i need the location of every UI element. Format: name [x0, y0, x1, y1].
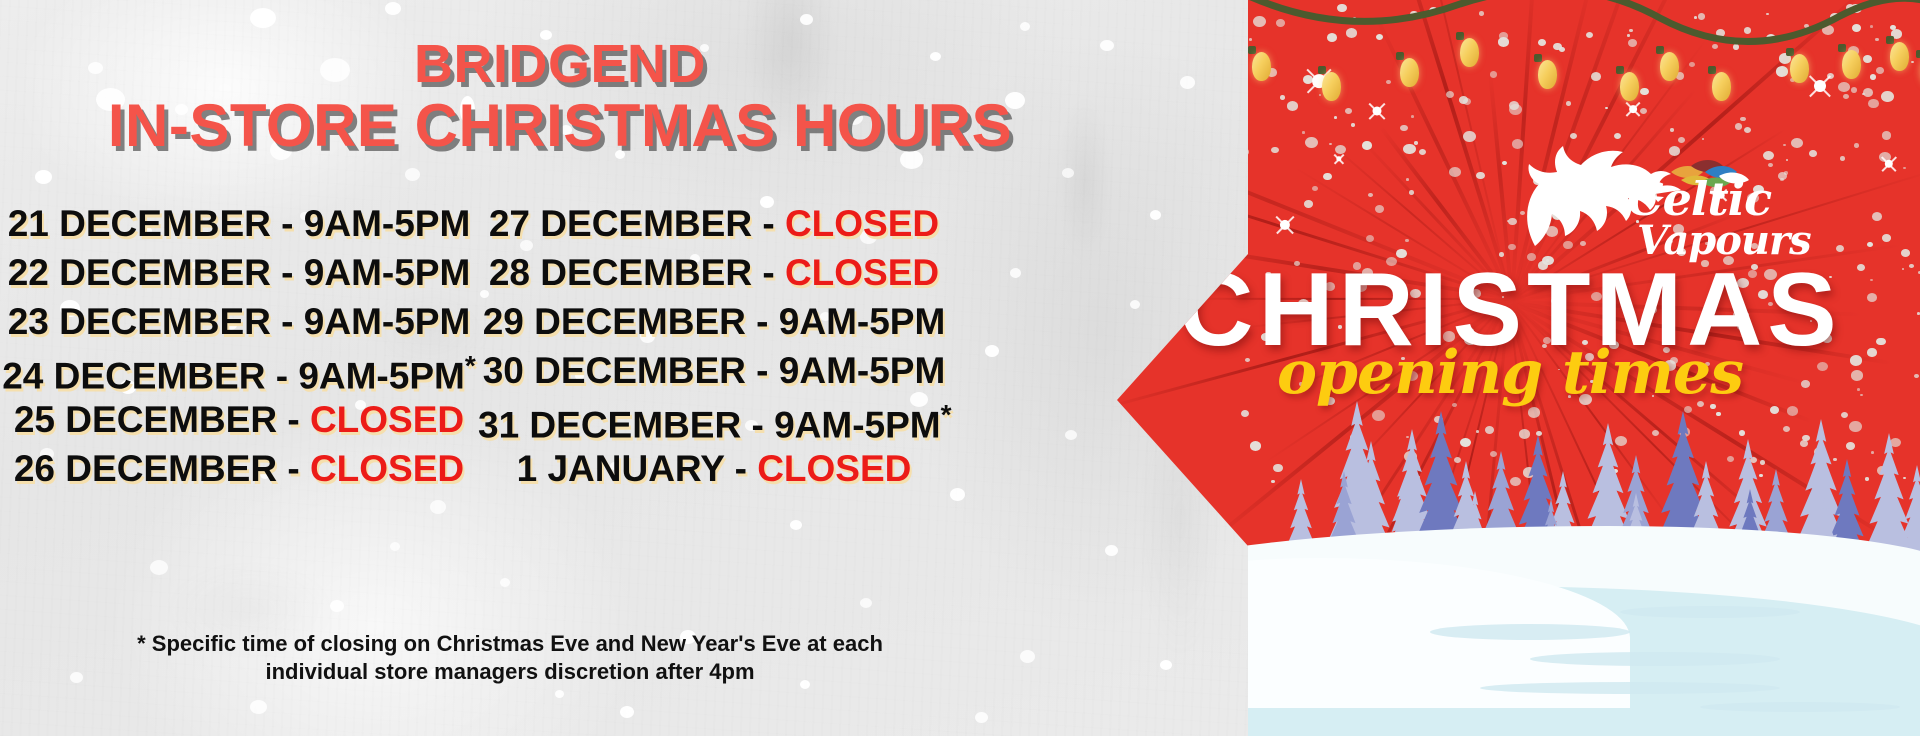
snow-streak: [1700, 702, 1900, 712]
snowflake: [950, 488, 965, 501]
snowflake: [860, 598, 872, 608]
hours-row: 30 DECEMBER - 9AM-5PM: [478, 352, 950, 401]
snow-dot: [1280, 95, 1286, 100]
christmas-hours-banner: BRIDGEND IN-STORE CHRISTMAS HOURS 21 DEC…: [0, 0, 1920, 736]
snowflake: [150, 560, 168, 575]
snowflake: [1160, 660, 1172, 670]
hours-separator: -: [271, 301, 304, 342]
snowflake: [385, 2, 401, 15]
bulb-cap: [1616, 66, 1624, 74]
snowflake: [1180, 76, 1195, 89]
hours-time-value: 9AM-5PM: [298, 355, 465, 396]
hours-time-value: 9AM-5PM: [304, 252, 471, 293]
sparkle-core: [1336, 156, 1341, 161]
title-line-2: IN-STORE CHRISTMAS HOURS: [0, 94, 1120, 158]
snow-dot: [1490, 71, 1497, 77]
snowflake: [975, 712, 988, 723]
snow-dot: [1640, 88, 1648, 95]
sparkle-core: [1629, 105, 1637, 113]
sparkle-icon: [1875, 150, 1903, 178]
snowflake: [790, 520, 802, 530]
hours-separator: -: [265, 355, 298, 396]
snow-streak: [1480, 682, 1780, 694]
snow-dot: [1409, 190, 1414, 195]
snow-dot: [1375, 205, 1384, 213]
snowflake: [500, 578, 510, 587]
snowflake: [1010, 268, 1021, 278]
hours-row: 26 DECEMBER - CLOSED: [0, 450, 478, 499]
snowflake: [390, 542, 400, 551]
snow-dot: [1809, 150, 1817, 157]
logo-celtic-text: Celtic: [1627, 178, 1811, 222]
hours-time-value: 9AM-5PM: [779, 301, 946, 342]
snowflake: [1130, 300, 1140, 309]
hours-date: 29 DECEMBER: [483, 301, 746, 342]
snow-streak: [1430, 624, 1630, 640]
snow-dot: [1863, 88, 1874, 97]
hours-time-value: 9AM-5PM: [779, 350, 946, 391]
bulb-cap: [1456, 32, 1464, 40]
snow-dot: [1870, 74, 1876, 79]
title-line-1: BRIDGEND: [0, 36, 1120, 94]
snow-dot: [1840, 156, 1845, 160]
bulb-cap: [1656, 46, 1664, 54]
snow-dot: [1901, 249, 1910, 257]
hours-separator: -: [752, 203, 785, 244]
snow-dot: [1329, 143, 1331, 145]
hours-separator: -: [724, 448, 757, 489]
snowflake: [250, 8, 276, 28]
hours-time-value: 9AM-5PM: [774, 404, 941, 445]
hours-row: 25 DECEMBER - CLOSED: [0, 401, 478, 450]
footnote: * Specific time of closing on Christmas …: [0, 630, 1020, 685]
snow-dot: [1903, 167, 1905, 169]
snow-dot: [1872, 212, 1882, 221]
hours-asterisk: *: [941, 399, 952, 430]
hours-row: 1 JANUARY - CLOSED: [478, 450, 950, 499]
snow-dot: [1345, 108, 1352, 114]
snowflake: [405, 168, 420, 181]
snow-dot: [1867, 242, 1873, 247]
hours-date: 23 DECEMBER: [8, 301, 271, 342]
hours-separator: -: [277, 448, 310, 489]
sparkle-core: [1814, 80, 1826, 92]
snow-dot: [1459, 96, 1468, 104]
snow-streak: [1620, 606, 1800, 618]
snow-dot: [1843, 94, 1849, 99]
logo-wordmark: Celtic Vapours: [1627, 178, 1811, 260]
snowflake: [1062, 168, 1074, 178]
hours-closed-value: CLOSED: [785, 203, 939, 244]
snowflake: [430, 500, 446, 514]
hours-asterisk: *: [465, 350, 476, 381]
hours-row: 28 DECEMBER - CLOSED: [478, 254, 950, 303]
hours-time-value: 9AM-5PM: [304, 301, 471, 342]
snow-dot: [1362, 141, 1372, 149]
snow-dot: [1368, 193, 1373, 197]
hours-row: 21 DECEMBER - 9AM-5PM: [0, 205, 478, 254]
snow-dot: [1882, 131, 1892, 139]
hours-date: 21 DECEMBER: [8, 203, 271, 244]
snow-dot: [1304, 200, 1313, 207]
hours-date: 1 JANUARY: [517, 448, 725, 489]
hours-row: 24 DECEMBER - 9AM-5PM*: [0, 352, 478, 401]
hours-separator: -: [752, 252, 785, 293]
snowflake: [1020, 650, 1035, 663]
snow-streak: [1530, 652, 1780, 666]
hours-separator: -: [271, 252, 304, 293]
snow-dot: [1406, 178, 1409, 181]
snow-dot: [1881, 91, 1894, 102]
bulb-cap: [1916, 50, 1920, 58]
hours-row: 23 DECEMBER - 9AM-5PM: [0, 303, 478, 352]
hours-date: 25 DECEMBER: [14, 399, 277, 440]
snow-dot: [1323, 173, 1332, 180]
hours-date: 30 DECEMBER: [483, 350, 746, 391]
snow-dot: [1868, 99, 1878, 108]
hours-time-value: 9AM-5PM: [304, 203, 471, 244]
hours-date: 26 DECEMBER: [14, 448, 277, 489]
hours-closed-value: CLOSED: [310, 448, 464, 489]
snow-dot: [1851, 87, 1857, 93]
sparkle-core: [1885, 160, 1893, 168]
hours-separator: -: [277, 399, 310, 440]
hours-separator: -: [746, 301, 779, 342]
hours-date: 22 DECEMBER: [8, 252, 271, 293]
snowflake: [555, 690, 564, 698]
bulb-cap: [1534, 54, 1542, 62]
bulb-cap: [1838, 44, 1846, 52]
snow-dot: [1740, 117, 1745, 122]
snowflake: [1150, 210, 1161, 220]
snowflake: [250, 700, 267, 714]
sparkle-core: [1373, 107, 1382, 116]
footnote-line-2: individual store managers discretion aft…: [0, 658, 1020, 686]
sparkle-icon: [1362, 96, 1392, 126]
snow-dot: [1463, 131, 1476, 142]
bulb-cap: [1786, 48, 1794, 56]
snowflake: [800, 14, 813, 25]
snow-dot: [1476, 172, 1485, 180]
bulb-cap: [1248, 46, 1256, 54]
snow-dot: [1411, 115, 1415, 118]
hours-date: 31 DECEMBER: [478, 404, 741, 445]
bulb-cap: [1318, 66, 1326, 74]
hours-row: 22 DECEMBER - 9AM-5PM: [0, 254, 478, 303]
snowflake: [330, 600, 344, 612]
page-title: BRIDGEND IN-STORE CHRISTMAS HOURS: [0, 36, 1120, 158]
hours-closed-value: CLOSED: [785, 252, 939, 293]
sparkle-icon: [1330, 150, 1348, 168]
sparkle-core: [1280, 220, 1290, 230]
snow-dot: [1882, 234, 1891, 242]
bulb-cap: [1886, 36, 1894, 44]
bulb-cap: [1708, 66, 1716, 74]
celtic-vapours-logo: Celtic Vapours: [1505, 128, 1805, 258]
snow-dot: [1302, 131, 1305, 133]
bulb-cap: [1396, 52, 1404, 60]
hours-separator: -: [746, 350, 779, 391]
hours-panel: BRIDGEND IN-STORE CHRISTMAS HOURS 21 DEC…: [0, 0, 1250, 736]
snowflake: [1105, 545, 1118, 556]
hours-closed-value: CLOSED: [310, 399, 464, 440]
hours-separator: -: [741, 404, 774, 445]
hours-date: 28 DECEMBER: [489, 252, 752, 293]
hours-closed-value: CLOSED: [757, 448, 911, 489]
snowflake: [1020, 22, 1030, 31]
snowflake: [35, 170, 52, 184]
snow-dot: [1403, 144, 1415, 155]
footnote-line-1: * Specific time of closing on Christmas …: [0, 630, 1020, 658]
hours-column-right: 27 DECEMBER - CLOSED28 DECEMBER - CLOSED…: [478, 205, 950, 499]
hours-row: 29 DECEMBER - 9AM-5PM: [478, 303, 950, 352]
hours-row: 27 DECEMBER - CLOSED: [478, 205, 950, 254]
hours-separator: -: [271, 203, 304, 244]
hours-date: 24 DECEMBER: [2, 355, 265, 396]
sparkle-icon: [1268, 208, 1302, 242]
snowflake: [620, 706, 634, 718]
promo-subhead: opening times: [1100, 343, 1920, 403]
snow-dot: [1605, 107, 1608, 109]
hours-row: 31 DECEMBER - 9AM-5PM*: [478, 401, 950, 450]
hours-date: 27 DECEMBER: [489, 203, 752, 244]
snowflake: [985, 345, 999, 357]
snow-dot: [1419, 149, 1426, 155]
hours-column-left: 21 DECEMBER - 9AM-5PM22 DECEMBER - 9AM-5…: [0, 205, 478, 499]
snowflake: [1065, 430, 1077, 440]
